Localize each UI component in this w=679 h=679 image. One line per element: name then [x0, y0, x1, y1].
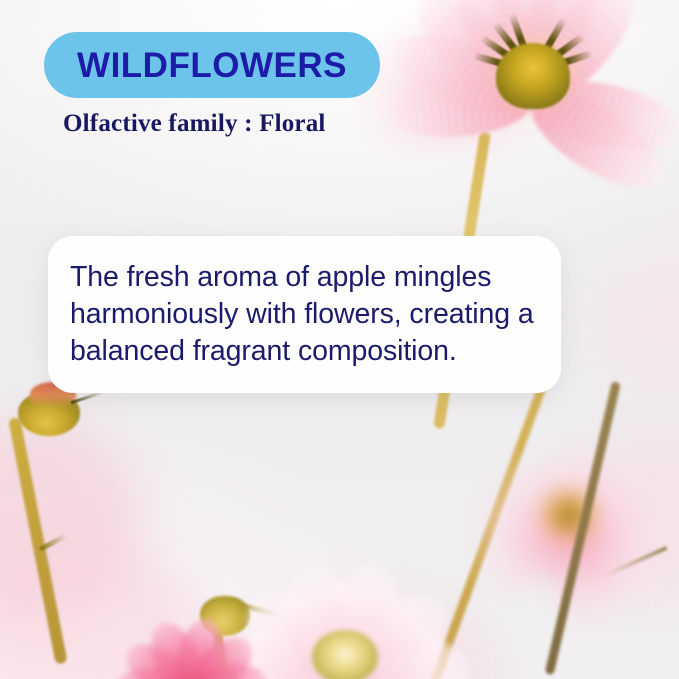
olfactive-family-subtitle: Olfactive family : Floral: [63, 110, 326, 138]
category-badge-label: WILDFLOWERS: [77, 48, 347, 83]
category-badge: WILDFLOWERS: [44, 32, 380, 98]
flower-calyx: [496, 43, 570, 109]
description-card-text: The fresh aroma of apple mingles harmoni…: [48, 259, 561, 370]
cosmos-flower-bottom-pink: [112, 612, 272, 679]
description-card: The fresh aroma of apple mingles harmoni…: [48, 236, 561, 393]
cosmos-flower-top-right: [378, 0, 679, 234]
image-canvas: WILDFLOWERS Olfactive family : Floral Th…: [0, 0, 679, 679]
